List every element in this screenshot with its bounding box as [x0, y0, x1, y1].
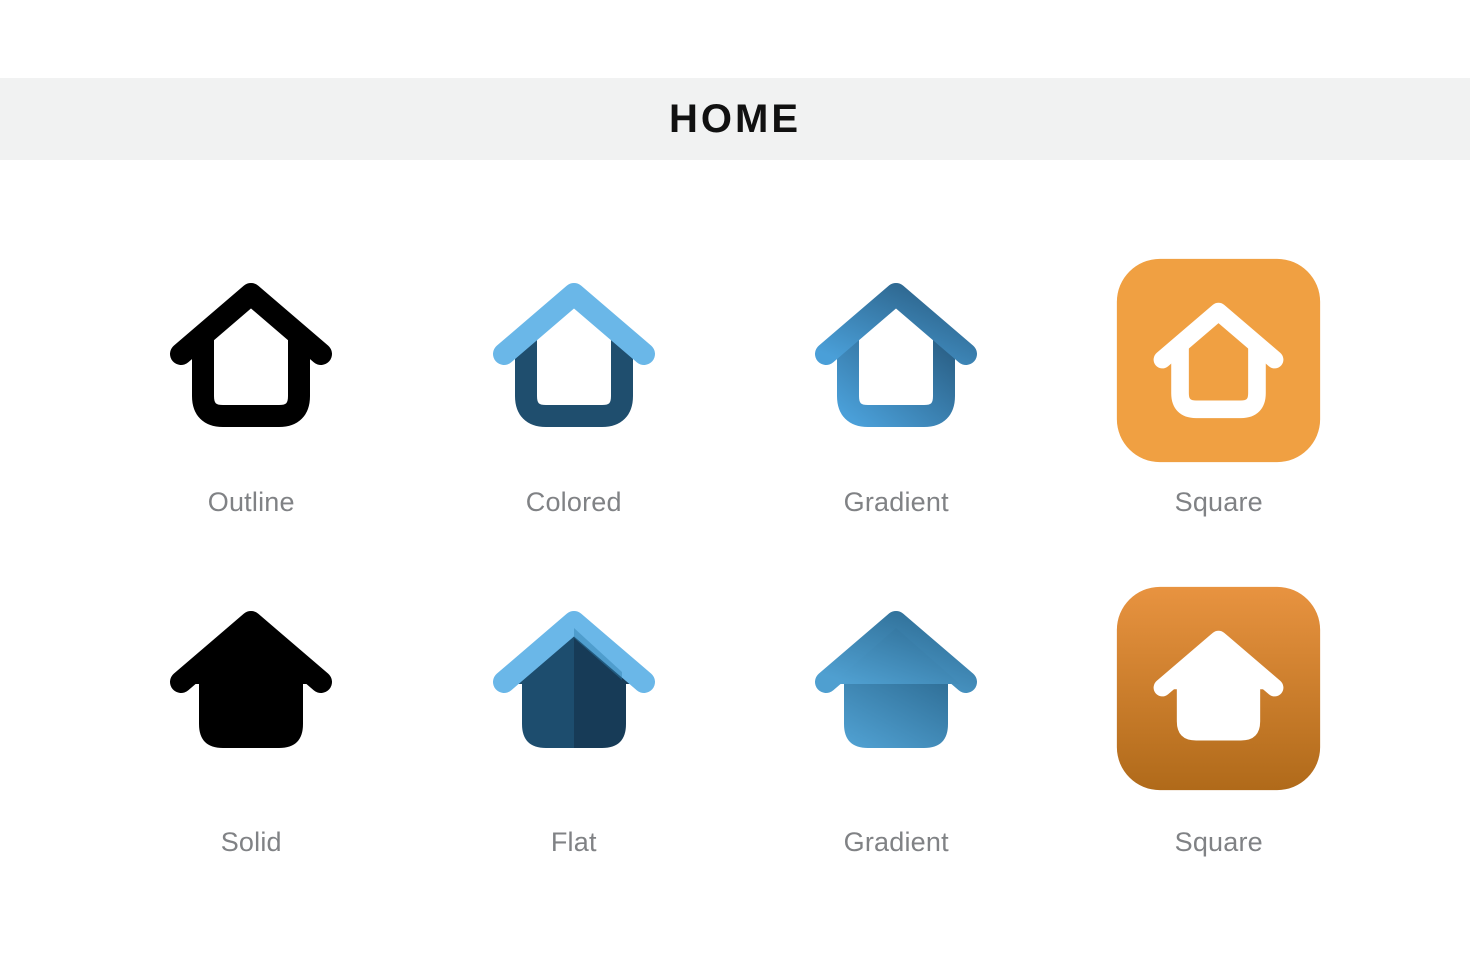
house-colored-icon[interactable]: [454, 240, 694, 480]
icon-cell-flat[interactable]: Flat: [413, 568, 736, 896]
icon-label: Gradient: [844, 828, 949, 858]
house-outline-icon[interactable]: [131, 240, 371, 480]
icon-cell-gradient-solid[interactable]: Gradient: [735, 568, 1058, 896]
icon-label: Square: [1175, 828, 1263, 858]
icon-cell-solid[interactable]: Solid: [90, 568, 413, 896]
icon-label: Flat: [551, 828, 597, 858]
icon-cell-square-gradient[interactable]: Square: [1058, 568, 1381, 896]
header-band: HOME: [0, 78, 1470, 160]
icon-cell-outline[interactable]: Outline: [90, 240, 413, 568]
house-solid-icon[interactable]: [131, 568, 371, 808]
icon-cell-square-flat[interactable]: Square: [1058, 240, 1381, 568]
house-flat-icon[interactable]: [454, 568, 694, 808]
icon-label: Square: [1175, 488, 1263, 518]
icon-cell-gradient-outline[interactable]: Gradient: [735, 240, 1058, 568]
icon-label: Solid: [221, 828, 282, 858]
icon-label: Gradient: [844, 488, 949, 518]
page-title: HOME: [669, 99, 801, 139]
house-square-gradient-icon[interactable]: [1099, 568, 1339, 808]
house-gradient-outline-icon[interactable]: [776, 240, 1016, 480]
icon-cell-colored[interactable]: Colored: [413, 240, 736, 568]
icon-label: Colored: [526, 488, 622, 518]
icon-sheet-page: HOME Outline Co: [0, 0, 1470, 980]
house-gradient-solid-icon[interactable]: [776, 568, 1016, 808]
icon-label: Outline: [208, 488, 295, 518]
house-square-flat-icon[interactable]: [1099, 240, 1339, 480]
icon-grid: Outline Colored: [90, 240, 1380, 896]
